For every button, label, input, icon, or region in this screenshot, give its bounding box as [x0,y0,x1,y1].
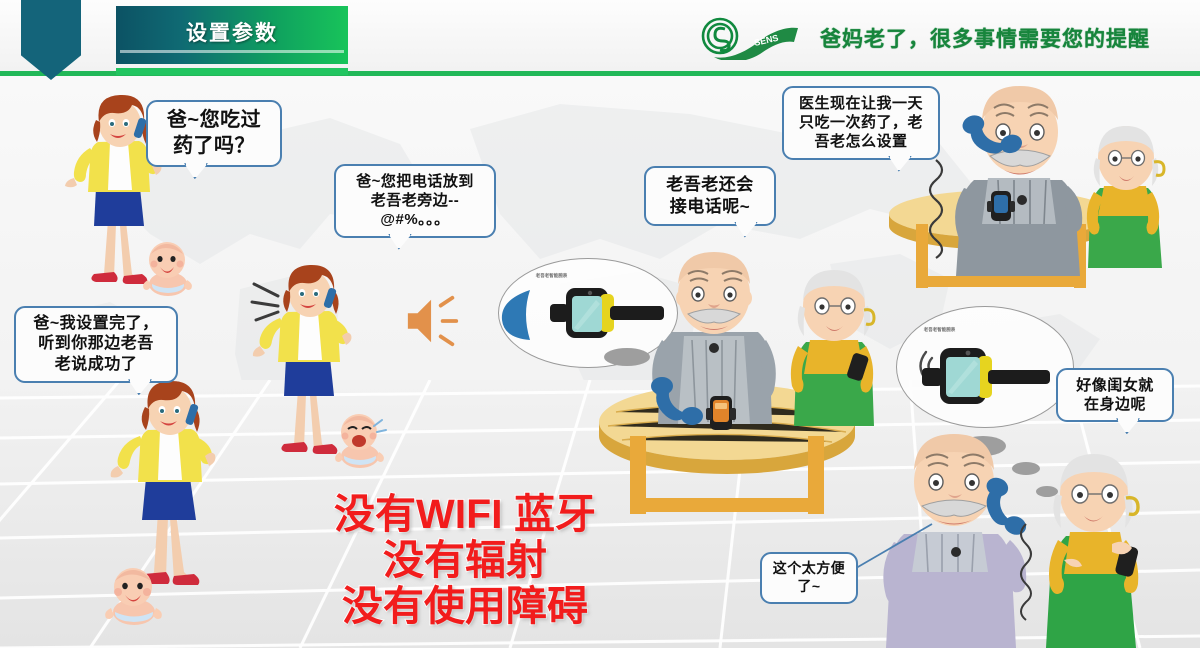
speech-bubble-grandpa-center: 老吾老还会 接电话呢~ [644,166,776,226]
slogan-line-1: 没有WIFI 蓝牙 [300,492,630,538]
device-label-left: 老吾老智能腕表 [536,272,568,278]
slogan-line-3: 没有使用障碍 [300,584,630,630]
bubble-line: 这个太方便 [770,560,848,578]
sens-ribbon-logo-icon: SENS [698,16,806,60]
bubble-line: 爸~我设置完了， [24,314,168,334]
figure-grandma-bottom-right [1034,440,1164,648]
speech-bubble-grandma-right: 好像闺女就 在身边呢 [1056,368,1174,422]
bubble-line: 老吾老还会 [654,174,766,196]
speech-bubble-daughter-mid: 爸~您把电话放到 老吾老旁边-- @#%。。。 [334,164,496,238]
bubble-line: 只吃一次药了，老 [792,113,930,132]
speech-bubble-grandpa-top-right: 医生现在让我一天 只吃一次药了，老 吾老怎么设置 [782,86,940,160]
slogan-text: 没有WIFI 蓝牙 没有辐射 没有使用障碍 [300,492,630,630]
prop-blue-shape-left [500,286,534,342]
bubble-line: 药了吗？ [156,134,272,160]
bubble-line: 老吾老旁边-- [344,191,486,210]
emphasis-lines-icon [250,278,300,333]
bubble-line: 接电话呢~ [654,196,766,218]
figure-daughter-phone-3 [110,378,230,598]
device-wrist-right [918,342,1058,412]
speaker-volume-icon [404,292,462,355]
banner-underline [120,50,344,53]
prop-device-on-table-2 [986,188,1016,226]
bubble-line: 好像闺女就 [1066,376,1164,395]
prop-device-on-table [704,392,738,436]
bubble-line: 老说成功了 [24,355,168,375]
slogan-line-2: 没有辐射 [300,538,630,584]
figure-baby-2 [330,412,390,470]
speech-bubble-grandpa-bottom: 这个太方便 了~ [760,552,858,604]
figure-baby-3 [100,566,170,628]
header-tagline: 爸妈老了，很多事情需要您的提醒 [820,23,1150,53]
prop-phone-cord [930,158,970,278]
device-label-right: 老吾老智能腕表 [924,326,956,332]
slide-canvas: 设置参数 SENS 爸妈老了，很多事情需要您的提醒 [0,0,1200,648]
banner-green-bar [116,68,348,75]
page-title: 设置参数 [116,17,348,47]
bubble-line: 听到你那边老吾 [24,334,168,354]
section-title-banner: 设置参数 [116,6,348,64]
figure-grandma-center [780,258,890,428]
bubble-line: 吾老怎么设置 [792,132,930,151]
bubble-line: 爸~您把电话放到 [344,172,486,191]
bubble-line: 医生现在让我一天 [792,94,930,113]
bubble-line: 爸~您吃过 [156,108,272,134]
bubble-line: 在身边呢 [1066,395,1164,414]
figure-baby-1 [138,240,198,298]
bubble-line: 了~ [770,578,848,596]
bubble-line: @#%。。。 [344,210,486,229]
speech-bubble-daughter-bottom-left: 爸~我设置完了， 听到你那边老吾 老说成功了 [14,306,178,383]
speech-bubble-daughter-top-left: 爸~您吃过 药了吗？ [146,100,282,167]
